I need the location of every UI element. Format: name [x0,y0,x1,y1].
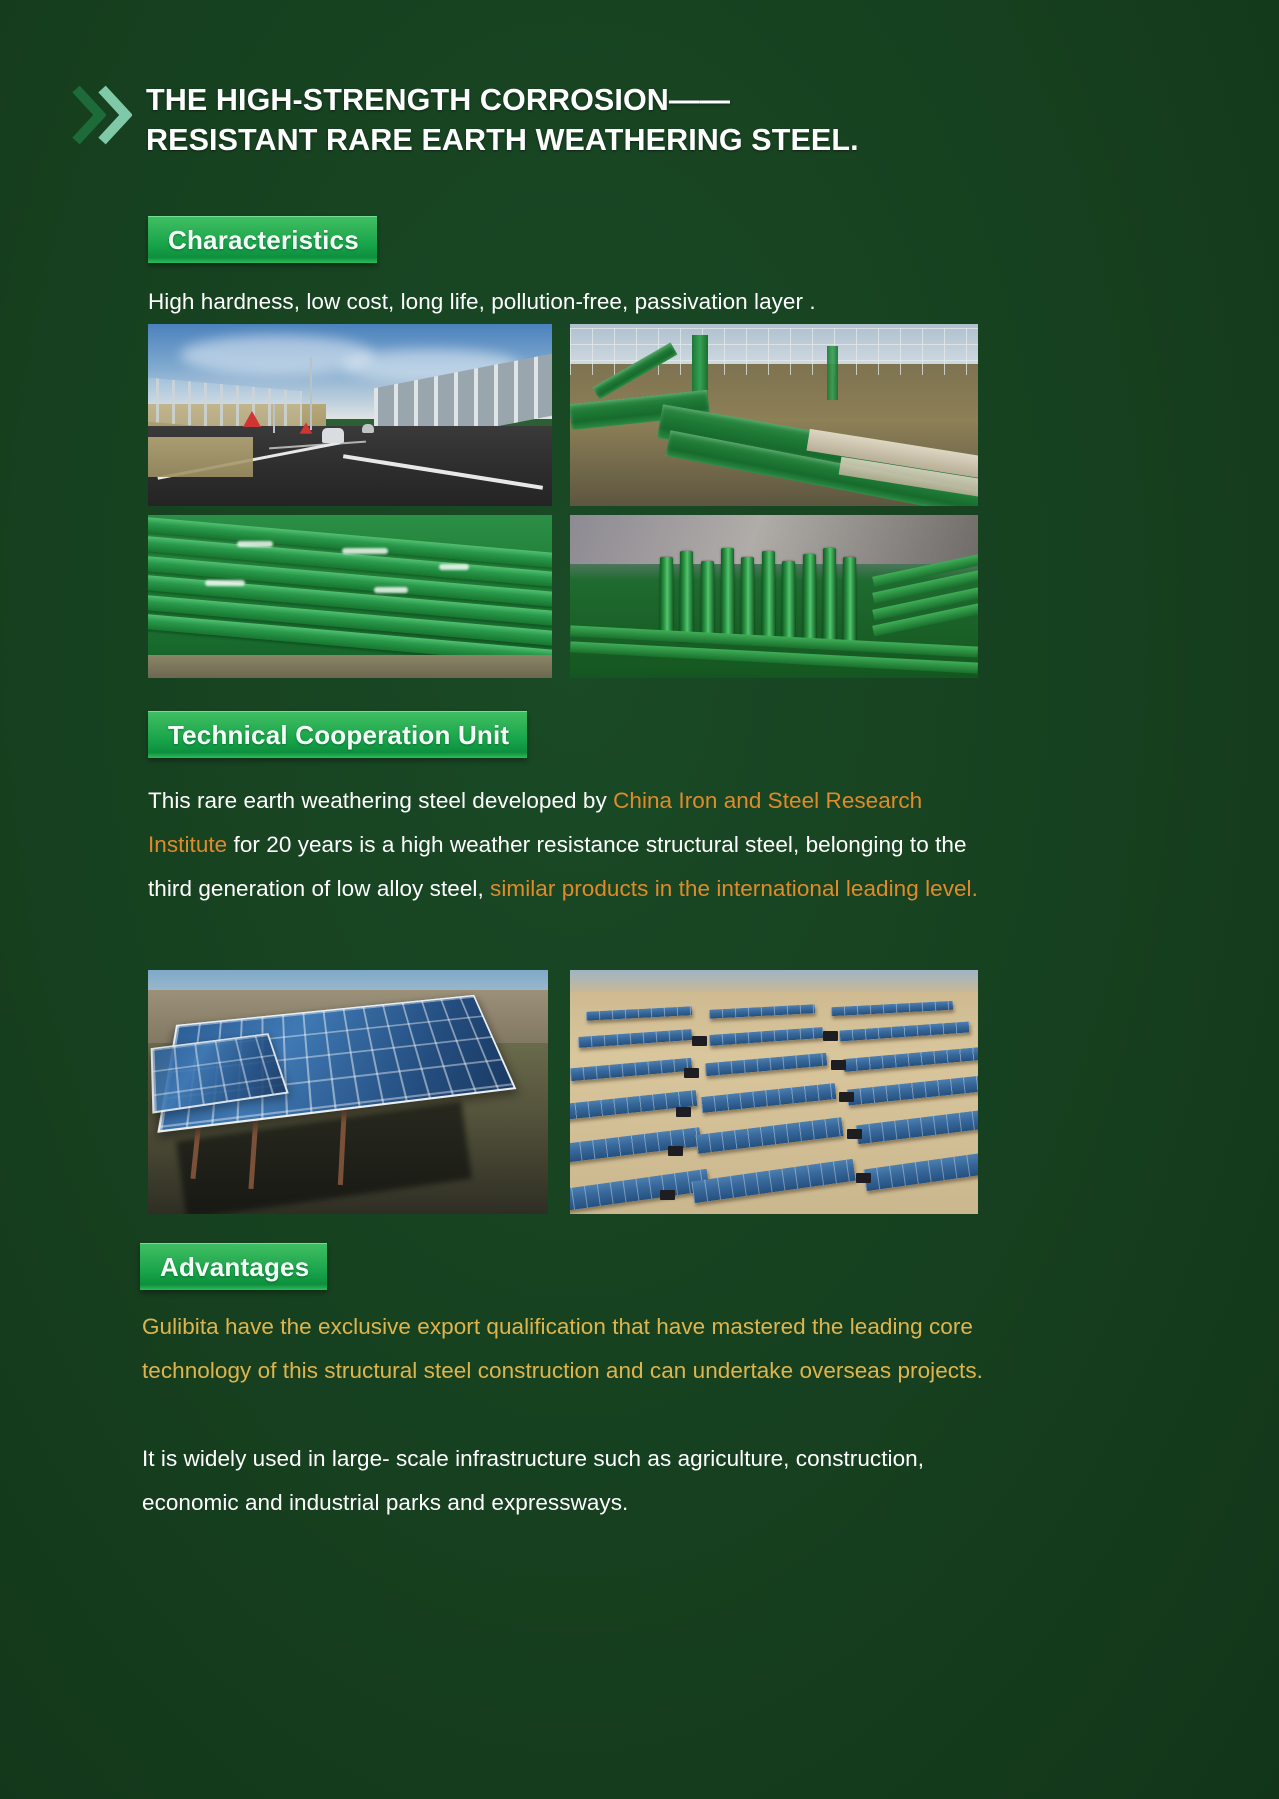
chevron-right-front-icon [98,84,132,146]
body-text: This rare earth weathering steel develop… [148,788,613,813]
poster-page: THE HIGH-STRENGTH CORROSION—— RESISTANT … [0,0,1279,1799]
solar-farm-aerial-photo [570,970,978,1214]
highlighted-text: similar products in the international le… [490,876,978,901]
advantages-paragraph-white: It is widely used in large- scale infras… [142,1437,992,1525]
highway-guardrail-photo [148,324,552,506]
green-posts-bundle-photo [570,515,978,678]
characteristics-description: High hardness, low cost, long life, poll… [148,280,1048,324]
section-badge-technical-cooperation-unit: Technical Cooperation Unit [148,711,527,758]
section-badge-characteristics: Characteristics [148,216,377,263]
technical-cooperation-paragraph: This rare earth weathering steel develop… [148,779,984,911]
page-header: THE HIGH-STRENGTH CORROSION—— RESISTANT … [0,0,1279,190]
double-chevron-right-icon [72,84,152,146]
stacked-green-beams-photo [148,515,552,678]
page-title-line-1: THE HIGH-STRENGTH CORROSION—— [146,80,1146,120]
page-title-line-2: RESISTANT RARE EARTH WEATHERING STEEL. [146,120,1146,160]
section-badge-advantages: Advantages [140,1243,327,1290]
advantages-paragraph-gold: Gulibita have the exclusive export quali… [142,1305,992,1393]
solar-panel-hillside-photo [148,970,548,1214]
green-guardrail-closeup-photo [570,324,978,506]
page-title: THE HIGH-STRENGTH CORROSION—— RESISTANT … [146,80,1146,160]
